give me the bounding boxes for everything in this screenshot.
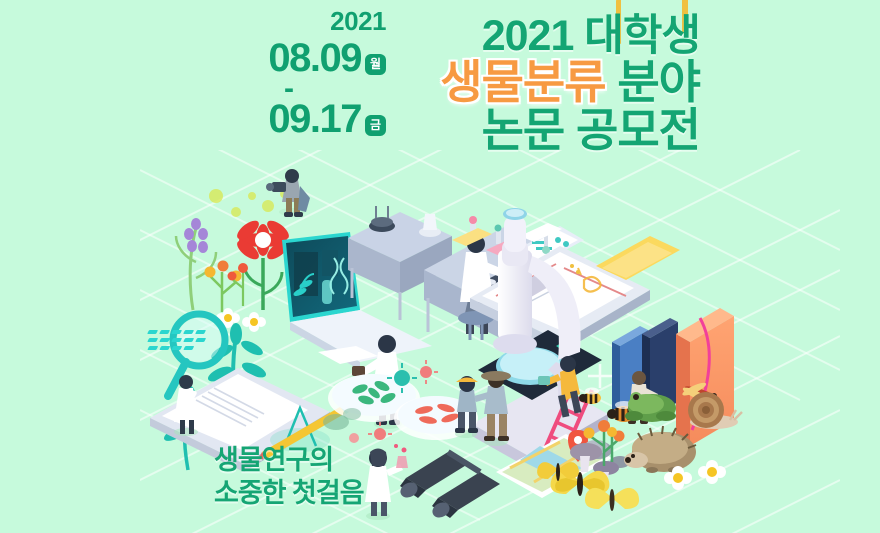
poster-tagline: 생물연구의 소중한 첫걸음 [214,444,364,510]
title-line-2-rest: 분야 [606,56,700,108]
date-end-dayofweek-badge: 금 [365,115,386,136]
title-line-3: 논문 공모전 [440,107,700,155]
date-end: 09.17 [268,99,361,139]
date-start-dayofweek-badge: 월 [365,54,386,75]
poster-canvas: 2021 08.09 월 - 09.17 금 2021 대학생 생물분류 분야 … [0,0,880,533]
flower-orange-cluster [205,261,242,313]
title-line-2: 생물분류 분야 [440,59,700,107]
date-end-row: 09.17 금 [216,99,386,139]
date-year: 2021 [216,8,386,34]
date-start: 08.09 [268,38,361,78]
butterfly-3 [537,462,579,481]
plant-lavender [176,218,216,310]
tagline-line-1: 생물연구의 [214,444,364,477]
person-scientist-flask [365,444,408,520]
binoculars [398,452,500,521]
event-date-block: 2021 08.09 월 - 09.17 금 [216,8,386,141]
tagline-line-2: 소중한 첫걸음 [214,477,364,510]
bubbles-decorative [209,189,288,217]
title-highlight-biological-classification: 생물분류 [440,56,605,108]
bee-1 [579,388,601,405]
poster-title-block: 2021 대학생 생물분류 분야 논문 공모전 [440,14,700,154]
title-line-1: 2021 대학생 [440,14,700,59]
flower-red-small [228,263,249,306]
date-range-dash: - [216,80,386,98]
butterfly-2 [585,488,639,511]
sparkle [588,364,612,388]
date-start-row: 08.09 월 [216,38,386,78]
